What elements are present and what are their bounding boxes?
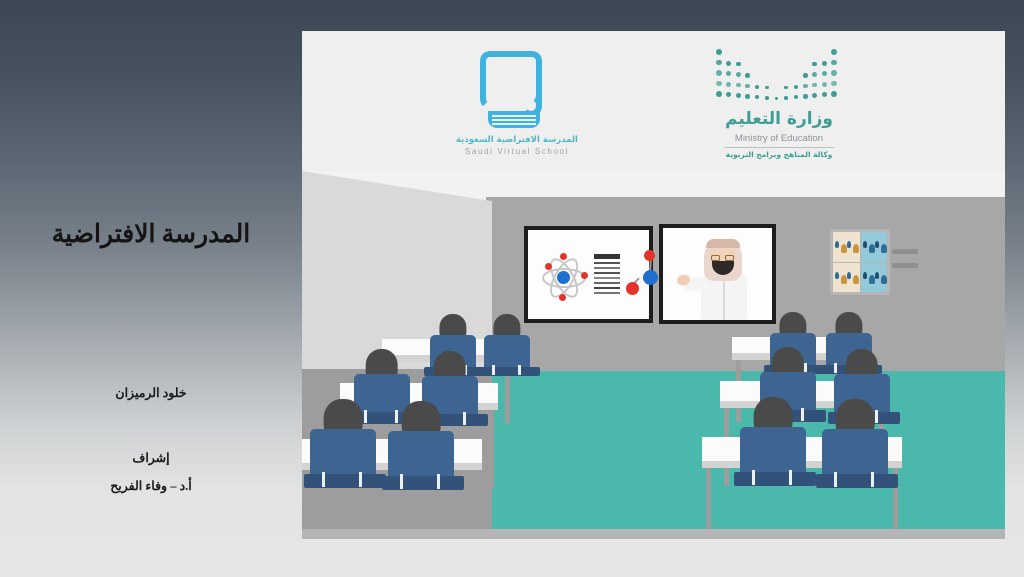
supervisor-label: إشراف	[0, 450, 302, 466]
supervisor-name: أ.د – وفاء الفريح	[0, 478, 302, 494]
video-conference-grid	[830, 229, 890, 295]
video-conference-cell	[833, 263, 860, 293]
floor-front-edge	[302, 529, 1005, 539]
logo-divider	[724, 147, 834, 148]
science-content-screen	[524, 226, 653, 323]
text-lines-icon	[594, 254, 620, 300]
moe-logo-sub-text: وكالة المناهج وبرامج التربوية	[694, 150, 864, 159]
connection-bars-icon	[892, 249, 918, 279]
page-title: المدرسة الافتراضية	[0, 220, 302, 250]
saudi-virtual-school-logo: المدرسة الافتراضية السعودية Saudi Virtua…	[452, 51, 582, 176]
title-text-column: المدرسة الافتراضية خلود الرميزان إشراف أ…	[0, 0, 302, 577]
logo-band: المدرسة الافتراضية السعودية Saudi Virtua…	[302, 31, 1005, 171]
palm-dots-icon	[716, 49, 844, 105]
illustration-panel: المدرسة الافتراضية السعودية Saudi Virtua…	[302, 31, 1005, 539]
svs-logo-arabic-text: المدرسة الافتراضية السعودية	[452, 135, 582, 145]
book-screen-icon	[480, 51, 554, 131]
atom-icon	[540, 254, 588, 302]
video-conference-cell	[861, 263, 888, 293]
moe-logo-english-text: Ministry of Education	[694, 133, 864, 144]
glasses-icon	[711, 255, 735, 261]
student-figure	[388, 401, 454, 488]
student-figure	[484, 314, 530, 375]
video-conference-cell	[833, 232, 860, 262]
student-figure	[822, 399, 888, 486]
student-figure	[310, 399, 376, 486]
ministry-of-education-logo: وزارة التعليم Ministry of Education وكال…	[694, 49, 864, 177]
teacher-video-screen	[659, 224, 776, 324]
svs-logo-english-text: Saudi Virtual School	[452, 147, 582, 156]
teacher-avatar	[677, 234, 759, 320]
video-conference-cell	[861, 232, 888, 262]
classroom-scene	[302, 171, 1005, 539]
student-figure	[740, 397, 806, 484]
moe-logo-arabic-text: وزارة التعليم	[694, 109, 864, 129]
author-name: خلود الرميزان	[0, 385, 302, 401]
